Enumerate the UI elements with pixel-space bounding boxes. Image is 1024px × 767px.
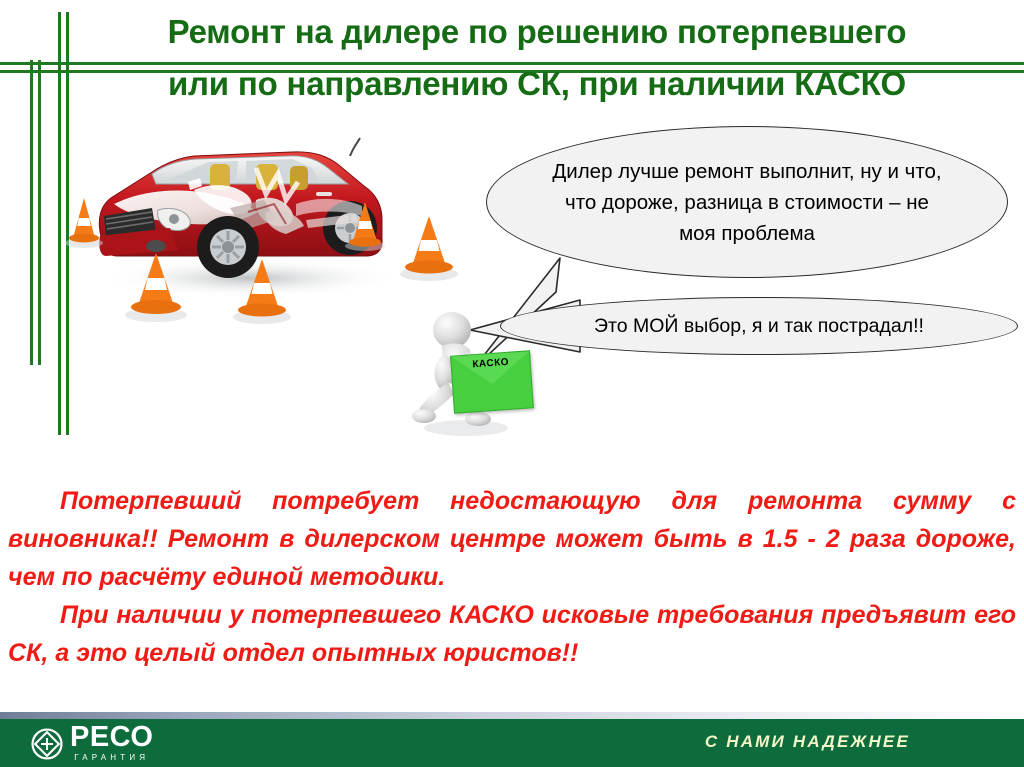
speech-bubble-dealer-opinion: Дилер лучше ремонт выполнит, ну и что, ч… bbox=[486, 126, 1008, 278]
body-paragraph-2: При наличии у потерпевшего КАСКО исковые… bbox=[8, 596, 1016, 672]
reso-logo-text: РЕСО ГАРАНТИЯ bbox=[70, 723, 153, 764]
kasko-envelope: КАСКО bbox=[450, 350, 534, 413]
reso-logo-word: РЕСО bbox=[70, 723, 153, 752]
traffic-cone bbox=[122, 250, 190, 322]
traffic-cone bbox=[230, 256, 294, 324]
decor-vline-2 bbox=[38, 60, 41, 365]
body-text: Потерпевший потребует недостающую для ре… bbox=[8, 482, 1016, 672]
title-line-1: Ремонт на дилере по решению потерпевшего bbox=[56, 8, 1018, 55]
traffic-cone bbox=[64, 196, 104, 248]
title-line-2: или по направлению СК, при наличии КАСКО bbox=[56, 60, 1018, 107]
reso-pinwheel-icon bbox=[30, 727, 64, 761]
body-p1-emphasis: 1.5 - 2 bbox=[763, 525, 840, 553]
running-person-with-kasko-illustration: КАСКО bbox=[404, 306, 544, 446]
cone-shape bbox=[398, 213, 460, 281]
traffic-cone bbox=[398, 213, 460, 281]
decor-vline-1 bbox=[30, 60, 33, 365]
footer-divider bbox=[0, 712, 1024, 719]
cone-shape bbox=[122, 250, 190, 322]
cone-shape bbox=[64, 196, 104, 248]
cone-shape bbox=[344, 200, 386, 252]
footer-bar: РЕСО ГАРАНТИЯ С НАМИ НАДЕЖНЕЕ bbox=[0, 719, 1024, 767]
footer-tagline: С НАМИ НАДЕЖНЕЕ bbox=[705, 732, 910, 752]
reso-logo: РЕСО ГАРАНТИЯ bbox=[30, 723, 153, 764]
traffic-cone bbox=[344, 200, 386, 252]
speech-bubble-my-choice: Это МОЙ выбор, я и так пострадал!! bbox=[500, 297, 1018, 355]
page-title: Ремонт на дилере по решению потерпевшего… bbox=[56, 8, 1018, 107]
body-paragraph-1: Потерпевший потребует недостающую для ре… bbox=[8, 482, 1016, 596]
speech-bubble-text: Это МОЙ выбор, я и так пострадал!! bbox=[594, 315, 924, 338]
slide-canvas: Ремонт на дилере по решению потерпевшего… bbox=[0, 0, 1024, 767]
cone-shape bbox=[230, 256, 294, 324]
reso-logo-subtitle: ГАРАНТИЯ bbox=[70, 752, 153, 764]
speech-bubble-text: Дилер лучше ремонт выполнит, ну и что, ч… bbox=[545, 156, 949, 249]
crashed-car-image bbox=[60, 108, 490, 323]
